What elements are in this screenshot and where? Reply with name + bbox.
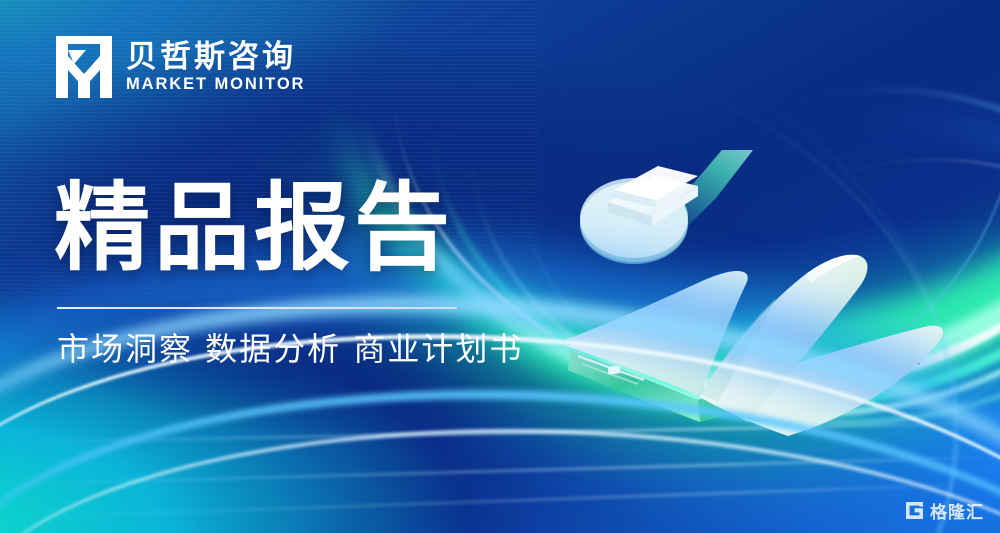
page-subtitle: 市场洞察 数据分析 商业计划书 <box>57 330 523 368</box>
title-divider <box>57 307 457 309</box>
page-title: 精品报告 <box>54 178 454 279</box>
gelonghui-g-logo-icon <box>905 501 924 520</box>
brand-logo-text: 贝哲斯咨询 MARKET MONITOR <box>126 41 305 94</box>
brand-name-cn: 贝哲斯咨询 <box>126 41 305 74</box>
watermark-text: 格隆汇 <box>930 498 984 523</box>
brand-logo: 贝哲斯咨询 MARKET MONITOR <box>56 36 305 98</box>
brand-name-en: MARKET MONITOR <box>126 75 305 93</box>
source-watermark: 格隆汇 <box>905 498 984 523</box>
market-monitor-m-mark-icon <box>56 36 112 98</box>
report-cover-poster: 贝哲斯咨询 MARKET MONITOR 精品报告 市场洞察 数据分析 商业计划… <box>0 0 1000 533</box>
